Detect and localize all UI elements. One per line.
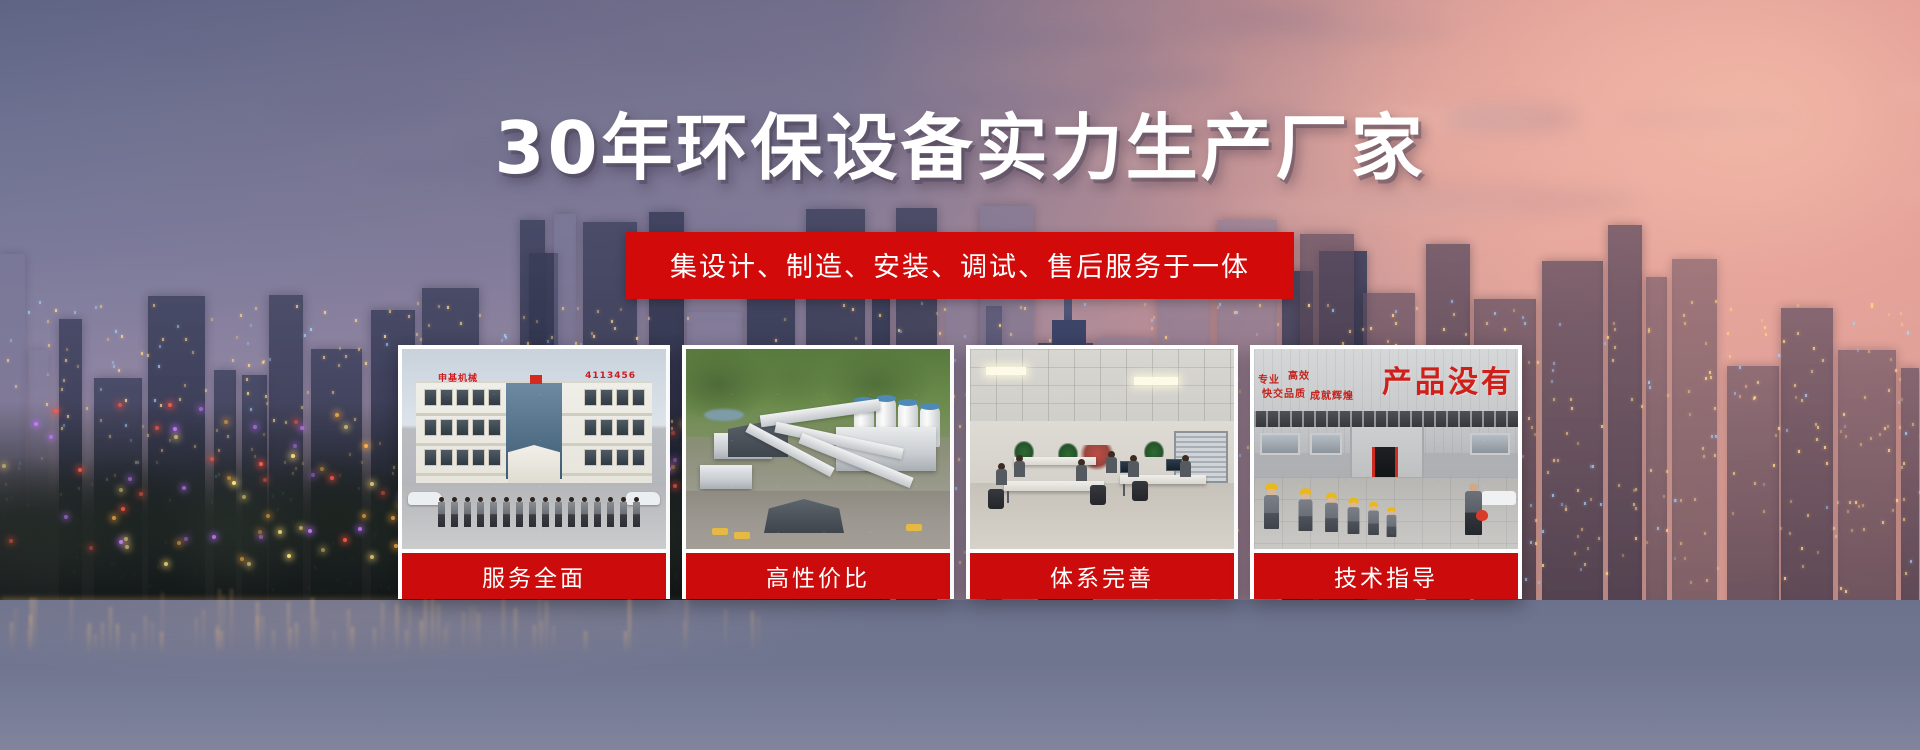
staff-member bbox=[529, 497, 536, 527]
window-light bbox=[593, 335, 595, 338]
window-light bbox=[1816, 438, 1818, 441]
window-light bbox=[1219, 303, 1221, 306]
window-light bbox=[1581, 528, 1583, 531]
window-light bbox=[1570, 398, 1572, 401]
window-light bbox=[1879, 433, 1881, 436]
window-light bbox=[1711, 435, 1713, 438]
card-photo-workers: 产品没有 专业 高效 快交品质 成就辉煌 bbox=[1254, 349, 1518, 549]
decorative-tree-light bbox=[370, 482, 374, 486]
water-reflection bbox=[220, 631, 223, 654]
window-light bbox=[1580, 568, 1582, 571]
window-light bbox=[1648, 330, 1650, 333]
window-light bbox=[1860, 443, 1862, 446]
window-light bbox=[1851, 529, 1853, 532]
window-light bbox=[547, 340, 549, 343]
window-light bbox=[1780, 527, 1782, 530]
window-light bbox=[562, 307, 564, 310]
water-reflection bbox=[724, 609, 727, 654]
window-light bbox=[1666, 529, 1668, 532]
window-light bbox=[1613, 322, 1615, 325]
window-light bbox=[1888, 389, 1890, 392]
window-light bbox=[1234, 311, 1236, 314]
factory-window bbox=[1260, 433, 1300, 455]
subtitle-bar: 集设计、制造、安装、调试、售后服务于一体 bbox=[626, 232, 1294, 299]
office-chair bbox=[1090, 485, 1106, 505]
window-light bbox=[1797, 332, 1799, 335]
window-light bbox=[1714, 454, 1716, 457]
window-light bbox=[1870, 437, 1872, 440]
window-light bbox=[1618, 484, 1620, 487]
window-light bbox=[1538, 581, 1540, 584]
window-light bbox=[1784, 577, 1786, 580]
water-reflection bbox=[295, 623, 298, 654]
window-light bbox=[536, 320, 538, 323]
decorative-tree-light bbox=[155, 426, 159, 430]
window-light bbox=[323, 356, 325, 359]
window-light bbox=[1714, 407, 1716, 410]
window-light bbox=[7, 359, 9, 362]
decorative-tree-light bbox=[64, 515, 68, 519]
window-light bbox=[1010, 333, 1012, 336]
window-light bbox=[408, 315, 410, 318]
window-light bbox=[1868, 350, 1870, 353]
window-light bbox=[1565, 508, 1567, 511]
factory-worker bbox=[1348, 497, 1360, 533]
window-light bbox=[1717, 567, 1719, 570]
window-light bbox=[879, 314, 881, 317]
window-light bbox=[55, 309, 57, 312]
window-light bbox=[1863, 528, 1865, 531]
card-label: 服务全面 bbox=[402, 553, 666, 599]
window-light bbox=[648, 317, 650, 320]
water-reflection bbox=[289, 628, 292, 654]
window-light bbox=[77, 365, 79, 368]
window-light bbox=[1824, 446, 1826, 449]
window-light bbox=[310, 328, 312, 331]
window-light bbox=[1835, 535, 1837, 538]
water-reflection bbox=[94, 634, 97, 654]
factory-worker bbox=[1264, 483, 1279, 529]
water-reflection bbox=[351, 627, 354, 654]
decorative-tree-light bbox=[9, 539, 13, 543]
window-light bbox=[192, 351, 194, 354]
window-light bbox=[1020, 306, 1022, 309]
window-light bbox=[1715, 435, 1717, 438]
water-reflection bbox=[533, 625, 536, 654]
feature-card[interactable]: 申基机械 4113456 服务全面 bbox=[398, 345, 670, 599]
water-reflection bbox=[552, 626, 555, 654]
window-light bbox=[1553, 398, 1555, 401]
window-light bbox=[1607, 336, 1609, 339]
decorative-tree-light bbox=[266, 514, 270, 518]
window-light bbox=[1783, 340, 1785, 343]
building-window bbox=[584, 389, 597, 406]
window-light bbox=[1622, 554, 1624, 557]
feature-card[interactable]: 产品没有 专业 高效 快交品质 成就辉煌 技术指导 bbox=[1250, 345, 1522, 599]
window-light bbox=[1151, 327, 1153, 330]
staff-member bbox=[568, 497, 575, 527]
window-light bbox=[113, 365, 115, 368]
window-light bbox=[1795, 396, 1797, 399]
water-reflection bbox=[116, 624, 119, 654]
window-light bbox=[1392, 314, 1394, 317]
decorative-tree-light bbox=[49, 435, 53, 439]
window-light bbox=[1633, 489, 1635, 492]
window-light bbox=[147, 354, 149, 357]
decorative-tree-light bbox=[320, 467, 324, 471]
office-worker bbox=[996, 463, 1007, 485]
decorative-tree-light bbox=[121, 507, 125, 511]
staff-member bbox=[516, 497, 523, 527]
water-reflection bbox=[132, 633, 135, 654]
decorative-tree-light bbox=[232, 481, 236, 485]
window-light bbox=[420, 338, 422, 341]
window-light bbox=[1892, 509, 1894, 512]
window-light bbox=[153, 304, 155, 307]
staff-member bbox=[477, 497, 484, 527]
window-light bbox=[1144, 303, 1146, 306]
window-light bbox=[1730, 308, 1732, 311]
water-reflection bbox=[261, 616, 264, 654]
water-reflection bbox=[431, 597, 434, 654]
water-reflection bbox=[584, 631, 587, 654]
window-light bbox=[1534, 433, 1536, 436]
factory-worker bbox=[1325, 492, 1338, 532]
building-window bbox=[456, 449, 469, 466]
window-light bbox=[1843, 413, 1845, 416]
window-light bbox=[1704, 532, 1706, 535]
window-light bbox=[10, 339, 12, 342]
decorative-tree-light bbox=[184, 537, 188, 541]
window-light bbox=[1761, 319, 1763, 322]
parked-car bbox=[1480, 491, 1516, 505]
decorative-tree-light bbox=[391, 516, 395, 520]
decorative-tree-light bbox=[253, 425, 257, 429]
office-desk bbox=[1004, 481, 1104, 491]
water-reflection bbox=[144, 616, 147, 654]
decorative-tree-light bbox=[321, 548, 325, 552]
window-light bbox=[1888, 449, 1890, 452]
decorative-tree-light bbox=[174, 435, 178, 439]
window-light bbox=[1912, 423, 1914, 426]
water-shimmer bbox=[0, 600, 1920, 750]
window-light bbox=[1817, 426, 1819, 429]
window-light bbox=[61, 388, 63, 391]
window-light bbox=[1837, 501, 1839, 504]
window-light bbox=[1387, 340, 1389, 343]
window-light bbox=[338, 364, 340, 367]
staff-member bbox=[581, 497, 588, 527]
window-light bbox=[1778, 354, 1780, 357]
building-window bbox=[472, 419, 485, 436]
building-window bbox=[456, 419, 469, 436]
decorative-tree-light bbox=[124, 537, 128, 541]
decorative-tree-light bbox=[362, 514, 366, 518]
decorative-tree-light bbox=[343, 538, 347, 542]
decorative-tree-light bbox=[278, 530, 282, 534]
feature-card-list: 申基机械 4113456 服务全面 bbox=[398, 345, 1522, 599]
window-light bbox=[232, 359, 234, 362]
window-light bbox=[107, 338, 109, 341]
building-window bbox=[632, 389, 645, 406]
window-light bbox=[332, 391, 334, 394]
window-light bbox=[1084, 303, 1086, 306]
window-light bbox=[1151, 319, 1153, 322]
window-light bbox=[1862, 504, 1864, 507]
window-light bbox=[1650, 469, 1652, 472]
building-window bbox=[440, 389, 453, 406]
window-light bbox=[1807, 514, 1809, 517]
window-light bbox=[39, 301, 41, 304]
window-light bbox=[1577, 535, 1579, 538]
water-reflection bbox=[256, 616, 259, 654]
decorative-tree-light bbox=[370, 555, 374, 559]
window-light bbox=[1739, 395, 1741, 398]
decorative-tree-light bbox=[308, 529, 312, 533]
window-light bbox=[1504, 328, 1506, 331]
window-light bbox=[386, 343, 388, 346]
window-light bbox=[115, 330, 117, 333]
window-light bbox=[1635, 507, 1637, 510]
window-light bbox=[1890, 358, 1892, 361]
window-light bbox=[15, 385, 17, 388]
window-light bbox=[1551, 380, 1553, 383]
window-light bbox=[1552, 369, 1554, 372]
window-light bbox=[1900, 312, 1902, 315]
water-reflection bbox=[315, 619, 318, 654]
window-light bbox=[1739, 366, 1741, 369]
window-light bbox=[1684, 557, 1686, 560]
window-light bbox=[100, 305, 102, 308]
window-light bbox=[1577, 442, 1579, 445]
building-window bbox=[472, 389, 485, 406]
window-light bbox=[1559, 323, 1561, 326]
window-light bbox=[265, 395, 267, 398]
window-light bbox=[1277, 323, 1279, 326]
office-worker bbox=[1014, 455, 1025, 477]
decorative-tree-light bbox=[294, 420, 298, 424]
water-reflection bbox=[151, 622, 154, 654]
staff-member bbox=[555, 497, 562, 527]
window-light bbox=[1896, 499, 1898, 502]
window-light bbox=[1680, 542, 1682, 545]
window-light bbox=[1680, 499, 1682, 502]
window-light bbox=[1910, 560, 1912, 563]
water-reflection bbox=[437, 604, 440, 654]
window-light bbox=[1757, 381, 1759, 384]
office-worker bbox=[1076, 459, 1087, 481]
window-light bbox=[246, 378, 248, 381]
wall-headline-text: 产品没有 bbox=[1382, 357, 1514, 401]
factory-window bbox=[1310, 433, 1342, 455]
window-light bbox=[355, 319, 357, 322]
wall-vent-band bbox=[1254, 411, 1518, 427]
window-light bbox=[1552, 494, 1554, 497]
window-light bbox=[1592, 465, 1594, 468]
window-light bbox=[416, 333, 418, 336]
window-light bbox=[158, 365, 160, 368]
window-light bbox=[1395, 310, 1397, 313]
window-light bbox=[1801, 399, 1803, 402]
window-light bbox=[339, 347, 341, 350]
building-phone-text: 4113456 bbox=[585, 371, 636, 381]
water-reflection bbox=[70, 598, 73, 654]
window-light bbox=[1590, 498, 1592, 501]
window-light bbox=[1217, 306, 1219, 309]
yard-truck bbox=[712, 528, 728, 535]
window-light bbox=[1754, 396, 1756, 399]
decorative-tree-light bbox=[293, 444, 297, 448]
feature-card[interactable]: 高性价比 bbox=[682, 345, 954, 599]
decorative-tree-light bbox=[2, 464, 6, 468]
window-light bbox=[1822, 359, 1824, 362]
window-light bbox=[1813, 347, 1815, 350]
window-light bbox=[1826, 462, 1828, 465]
window-light bbox=[1817, 551, 1819, 554]
window-light bbox=[1631, 398, 1633, 401]
decorative-tree-light bbox=[182, 486, 186, 490]
building-window bbox=[584, 419, 597, 436]
window-light bbox=[1553, 362, 1555, 365]
decorative-tree-light bbox=[224, 420, 228, 424]
water-reflection bbox=[216, 629, 219, 654]
water-reflection bbox=[373, 628, 376, 654]
water-reflection bbox=[757, 615, 760, 654]
water-reflection bbox=[88, 623, 91, 654]
building-window bbox=[616, 419, 629, 436]
window-light bbox=[1451, 300, 1453, 303]
water-reflection bbox=[683, 621, 686, 654]
building-window bbox=[600, 419, 613, 436]
window-light bbox=[48, 344, 50, 347]
window-light bbox=[121, 335, 123, 338]
window-light bbox=[1557, 459, 1559, 462]
window-light bbox=[939, 332, 941, 335]
window-light bbox=[636, 337, 638, 340]
factory-worker bbox=[1299, 488, 1313, 531]
window-light bbox=[211, 318, 213, 321]
decorative-tree-light bbox=[300, 426, 304, 430]
window-light bbox=[1674, 557, 1676, 560]
water-reflection bbox=[202, 609, 205, 654]
window-light bbox=[185, 338, 187, 341]
window-light bbox=[1811, 370, 1813, 373]
staff-member bbox=[451, 497, 458, 527]
window-light bbox=[460, 322, 462, 325]
factory-window bbox=[1470, 433, 1510, 455]
flag-icon bbox=[530, 375, 542, 384]
decorative-tree-light bbox=[128, 477, 132, 481]
window-light bbox=[1840, 587, 1842, 590]
window-light bbox=[1733, 472, 1735, 475]
building-window bbox=[488, 419, 501, 436]
hero-banner: 30年环保设备实力生产厂家 集设计、制造、安装、调试、售后服务于一体 申基机械 … bbox=[0, 0, 1920, 750]
window-light bbox=[1754, 482, 1756, 485]
window-light bbox=[1486, 322, 1488, 325]
factory-shed bbox=[700, 465, 752, 489]
window-light bbox=[1826, 506, 1828, 509]
decorative-tree-light bbox=[34, 422, 38, 426]
window-light bbox=[501, 339, 503, 342]
staff-member bbox=[633, 497, 640, 527]
decorative-tree-light bbox=[287, 554, 291, 558]
supervisor bbox=[1465, 483, 1482, 535]
window-light bbox=[1577, 489, 1579, 492]
window-light bbox=[1465, 333, 1467, 336]
window-light bbox=[1259, 304, 1261, 307]
decorative-tree-light bbox=[381, 491, 385, 495]
water-reflection bbox=[405, 630, 408, 654]
water-reflection bbox=[10, 622, 13, 654]
window-light bbox=[1612, 359, 1614, 362]
building-window bbox=[632, 449, 645, 466]
decorative-tree-light bbox=[173, 427, 177, 431]
window-light bbox=[1689, 413, 1691, 416]
parked-car bbox=[626, 492, 660, 505]
window-light bbox=[1604, 342, 1606, 345]
yard-truck bbox=[906, 524, 922, 531]
window-light bbox=[1765, 333, 1767, 336]
decorative-tree-light bbox=[125, 545, 129, 549]
decorative-tree-light bbox=[119, 540, 123, 544]
water-reflection bbox=[14, 608, 17, 654]
window-light bbox=[523, 316, 525, 319]
window-light bbox=[1553, 459, 1555, 462]
decorative-tree-light bbox=[78, 468, 82, 472]
window-light bbox=[1614, 328, 1616, 331]
window-light bbox=[162, 338, 164, 341]
window-light bbox=[1584, 502, 1586, 505]
window-light bbox=[1694, 498, 1696, 501]
water-reflection bbox=[469, 606, 472, 654]
window-light bbox=[1635, 537, 1637, 540]
decorative-tree-light bbox=[259, 535, 263, 539]
window-light bbox=[65, 359, 67, 362]
window-light bbox=[307, 391, 309, 394]
window-light bbox=[1786, 429, 1788, 432]
window-light bbox=[1763, 483, 1765, 486]
window-light bbox=[1903, 518, 1905, 521]
water-reflection bbox=[446, 623, 449, 654]
window-light bbox=[1165, 336, 1167, 339]
red-helmet bbox=[1476, 510, 1488, 521]
window-light bbox=[1657, 527, 1659, 530]
water-reflection bbox=[160, 632, 163, 654]
window-light bbox=[614, 327, 616, 330]
building-window bbox=[584, 449, 597, 466]
card-label: 技术指导 bbox=[1254, 553, 1518, 599]
window-light bbox=[248, 364, 250, 367]
window-light bbox=[1702, 447, 1704, 450]
decorative-tree-light bbox=[118, 403, 122, 407]
window-light bbox=[1709, 371, 1711, 374]
window-light bbox=[1705, 342, 1707, 345]
card-photo-plant bbox=[686, 349, 950, 549]
window-light bbox=[1849, 501, 1851, 504]
building-window bbox=[424, 389, 437, 406]
window-light bbox=[1802, 565, 1804, 568]
window-light bbox=[551, 336, 553, 339]
window-light bbox=[1525, 578, 1527, 581]
decorative-tree-light bbox=[210, 457, 214, 461]
feature-card[interactable]: 体系完善 bbox=[966, 345, 1238, 599]
window-light bbox=[964, 335, 966, 338]
office-worker bbox=[1180, 455, 1191, 477]
window-light bbox=[1601, 425, 1603, 428]
water-reflection bbox=[101, 622, 104, 654]
window-light bbox=[504, 334, 506, 337]
window-light bbox=[1853, 322, 1855, 325]
